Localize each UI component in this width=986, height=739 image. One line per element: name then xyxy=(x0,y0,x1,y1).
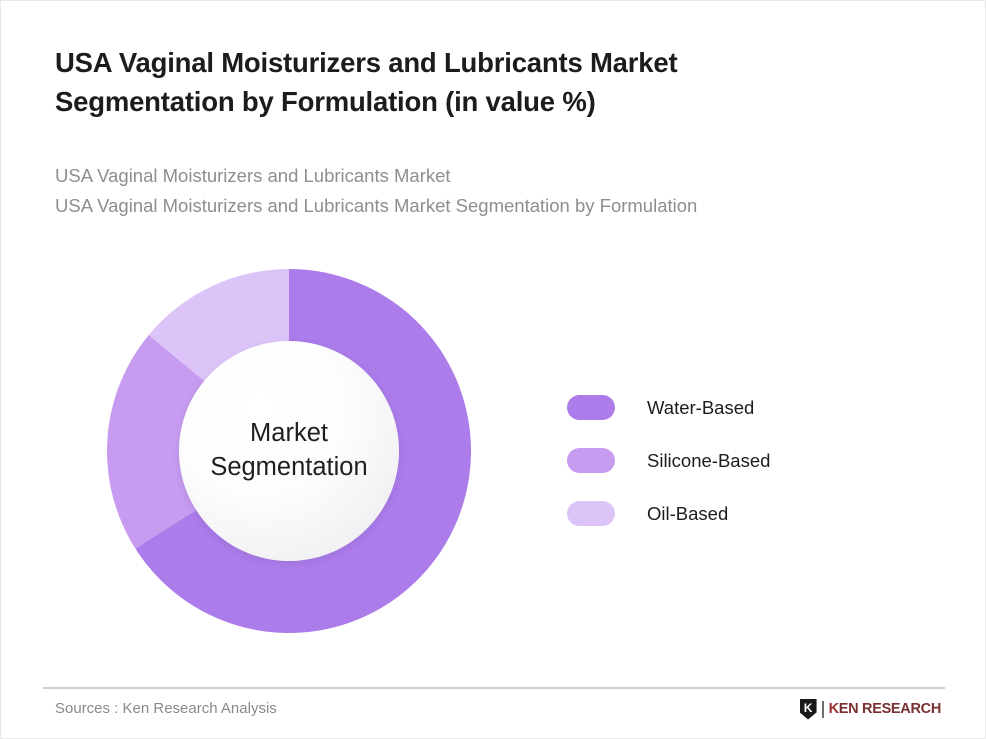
page-title: USA Vaginal Moisturizers and Lubricants … xyxy=(55,43,855,121)
legend-swatch xyxy=(567,395,615,420)
donut-center-line-2: Segmentation xyxy=(210,451,367,485)
logo-wordmark-rest: EN RESEARCH xyxy=(839,701,941,717)
logo-wordmark-k: K xyxy=(829,701,839,717)
slide-canvas: USA Vaginal Moisturizers and Lubricants … xyxy=(0,0,986,739)
legend-swatch xyxy=(567,448,615,473)
legend-swatch xyxy=(567,501,615,526)
legend-label: Silicone-Based xyxy=(647,450,770,472)
footer-source-text: Sources : Ken Research Analysis xyxy=(55,700,277,717)
chart-area: Market Segmentation Water-BasedSilicone-… xyxy=(1,233,986,673)
legend-item[interactable]: Water-Based xyxy=(567,381,907,434)
logo-divider xyxy=(822,701,824,718)
chart-legend: Water-BasedSilicone-BasedOil-Based xyxy=(567,381,907,540)
footer-divider xyxy=(43,687,945,689)
shield-icon: K xyxy=(800,699,817,720)
donut-chart: Market Segmentation xyxy=(107,269,471,633)
donut-center-label: Market Segmentation xyxy=(179,341,399,561)
legend-label: Water-Based xyxy=(647,397,754,419)
legend-label: Oil-Based xyxy=(647,503,728,525)
subtitle-line-2: USA Vaginal Moisturizers and Lubricants … xyxy=(55,191,935,221)
subtitle-line-1: USA Vaginal Moisturizers and Lubricants … xyxy=(55,161,935,191)
legend-item[interactable]: Silicone-Based xyxy=(567,434,907,487)
subtitle-block: USA Vaginal Moisturizers and Lubricants … xyxy=(55,161,935,221)
ken-research-logo: K KEN RESEARCH xyxy=(800,698,941,720)
donut-center-line-1: Market xyxy=(250,417,328,451)
shield-letter: K xyxy=(804,702,813,714)
legend-item[interactable]: Oil-Based xyxy=(567,487,907,540)
logo-wordmark: KEN RESEARCH xyxy=(829,701,941,717)
